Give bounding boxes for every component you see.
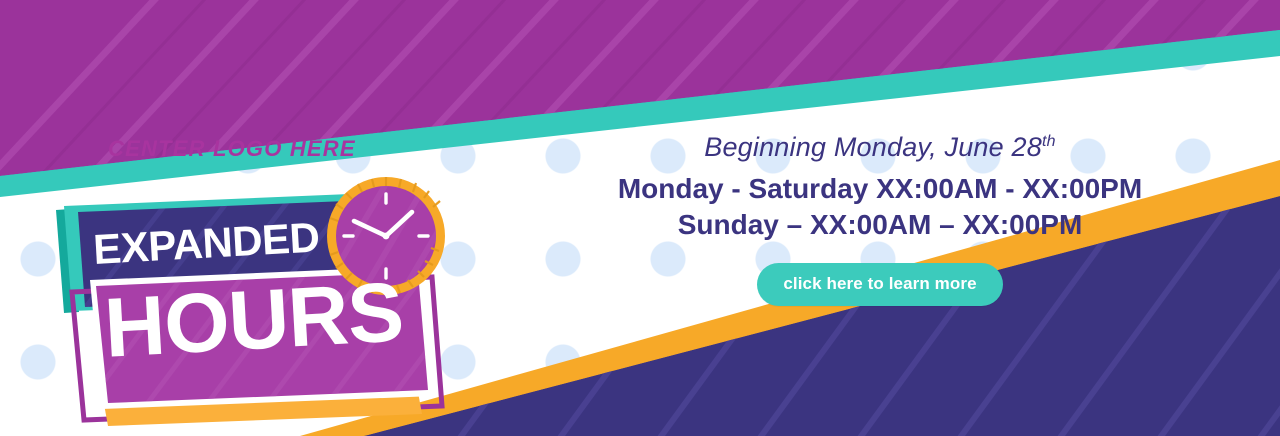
learn-more-button[interactable]: click here to learn more [757,263,1002,306]
expanded-hours-banner: EXPANDED HOURS CENTER LOGO HERE Beginnin… [0,0,1280,436]
center-logo-placeholder: CENTER LOGO HERE [108,136,356,162]
cta-wrapper: click here to learn more [560,263,1200,306]
date-ordinal-suffix: th [1042,133,1056,150]
beginning-date-text: Beginning Monday, June 28 [704,132,1042,162]
message-block: Beginning Monday, June 28th Monday - Sat… [560,132,1200,306]
badge-line-hours: HOURS [102,263,405,377]
hours-line-sunday: Sunday – XX:00AM – XX:00PM [560,207,1200,243]
badge-wordmark: EXPANDED HOURS [40,185,460,430]
badge-line-expanded: EXPANDED [92,213,321,274]
hours-list: Monday - Saturday XX:00AM - XX:00PM Sund… [560,171,1200,243]
beginning-date-line: Beginning Monday, June 28th [560,132,1200,163]
hours-line-weekday: Monday - Saturday XX:00AM - XX:00PM [560,171,1200,207]
